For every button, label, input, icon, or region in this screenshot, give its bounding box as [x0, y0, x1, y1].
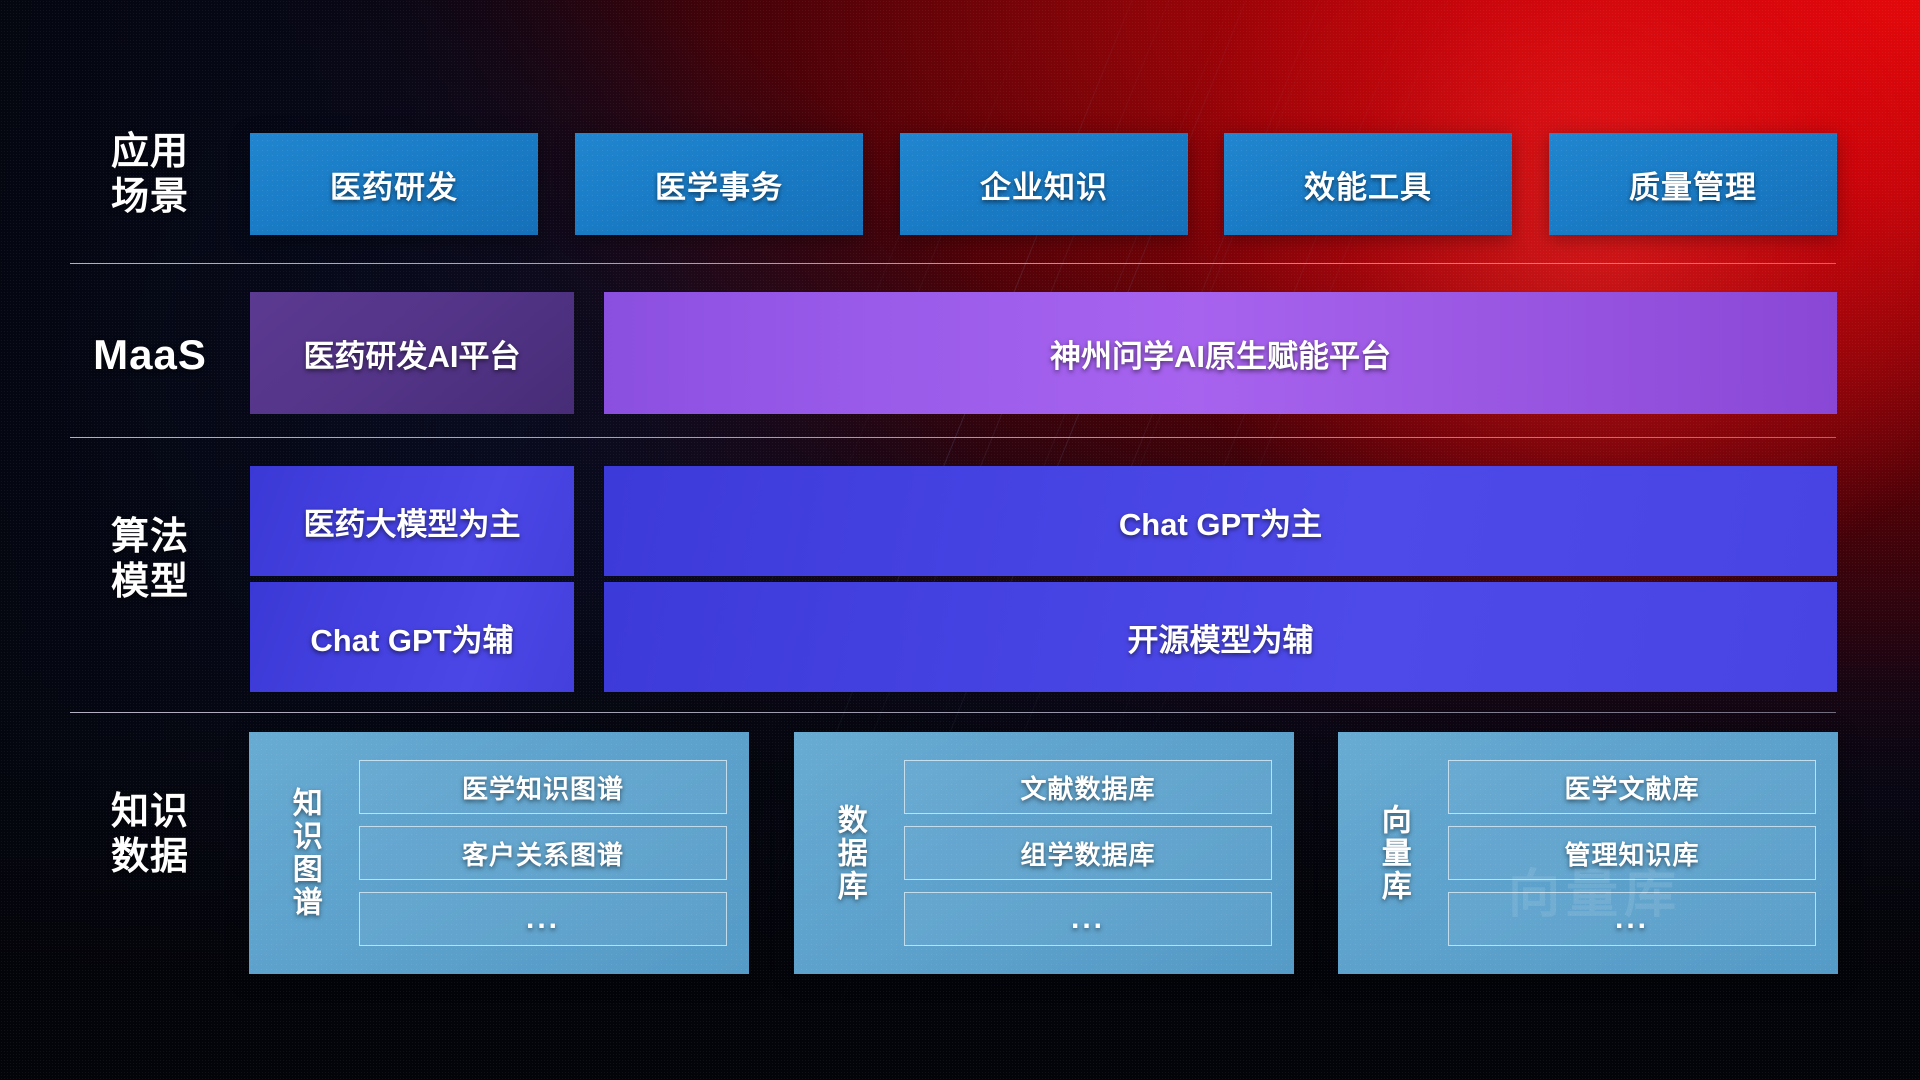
- knowledge-item-database-label-1: 组学数据库: [1020, 835, 1155, 872]
- algorithm-box-chatgpt-primary[interactable]: Chat GPT为主: [604, 466, 1837, 576]
- knowledge-item-database-label-0: 文献数据库: [1020, 769, 1155, 806]
- row-label-knowledge-line2: 数据: [60, 835, 240, 880]
- knowledge-item-graph-0[interactable]: 医学知识图谱: [359, 760, 727, 814]
- maas-label-1: 神州问学AI原生赋能平台: [1050, 331, 1391, 376]
- knowledge-panel-graph-items: 医学知识图谱 客户关系图谱 ...: [359, 732, 749, 974]
- knowledge-item-graph-2[interactable]: ...: [359, 892, 727, 946]
- app-scenario-label-1: 医学事务: [655, 162, 783, 207]
- app-scenario-box-4[interactable]: 质量管理: [1549, 133, 1837, 235]
- knowledge-item-vector-1[interactable]: 管理知识库: [1448, 826, 1816, 880]
- knowledge-panel-graph-title: 知识图谱: [249, 732, 359, 974]
- row-label-maas: MaaS: [60, 330, 240, 380]
- divider-algorithm-knowledge: [70, 712, 1836, 713]
- knowledge-panel-database[interactable]: 数据库 文献数据库 组学数据库 ...: [794, 732, 1294, 974]
- knowledge-panel-database-title: 数据库: [794, 732, 904, 974]
- maas-box-shenzhou-platform[interactable]: 神州问学AI原生赋能平台: [604, 292, 1837, 414]
- app-scenario-label-3: 效能工具: [1304, 162, 1432, 207]
- knowledge-item-vector-2[interactable]: ...: [1448, 892, 1816, 946]
- knowledge-item-graph-label-1: 客户关系图谱: [462, 835, 624, 872]
- knowledge-item-database-2[interactable]: ...: [904, 892, 1272, 946]
- app-scenario-box-0[interactable]: 医药研发: [250, 133, 538, 235]
- knowledge-item-vector-label-1: 管理知识库: [1564, 835, 1699, 872]
- app-scenario-box-2[interactable]: 企业知识: [900, 133, 1188, 235]
- row-label-algorithm-line2: 模型: [60, 560, 240, 605]
- app-scenario-label-0: 医药研发: [330, 162, 458, 207]
- row-label-algorithm-line1: 算法: [60, 515, 240, 560]
- algorithm-box-drug-model-primary[interactable]: 医药大模型为主: [250, 466, 574, 576]
- row-label-maas-text: MaaS: [60, 330, 240, 380]
- app-scenario-label-2: 企业知识: [980, 162, 1108, 207]
- algorithm-label-0: 医药大模型为主: [304, 499, 521, 544]
- algorithm-box-opensource-secondary[interactable]: 开源模型为辅: [604, 582, 1837, 692]
- row-label-application-line1: 应用: [60, 130, 240, 175]
- knowledge-item-graph-1[interactable]: 客户关系图谱: [359, 826, 727, 880]
- knowledge-panel-database-items: 文献数据库 组学数据库 ...: [904, 732, 1294, 974]
- knowledge-panel-vector[interactable]: 向量库 向量库 医学文献库 管理知识库 ...: [1338, 732, 1838, 974]
- knowledge-item-vector-label-0: 医学文献库: [1564, 769, 1699, 806]
- knowledge-item-database-label-2: ...: [1071, 902, 1105, 936]
- knowledge-item-vector-label-2: ...: [1615, 902, 1649, 936]
- architecture-diagram: 应用 场景 医药研发 医学事务 企业知识 效能工具 质量管理 MaaS 医药研发…: [0, 0, 1920, 1080]
- row-label-knowledge-line1: 知识: [60, 790, 240, 835]
- diagram-content: 应用 场景 医药研发 医学事务 企业知识 效能工具 质量管理 MaaS 医药研发…: [0, 0, 1920, 1080]
- divider-application-maas: [70, 263, 1836, 264]
- row-label-application: 应用 场景: [60, 130, 240, 220]
- app-scenario-box-3[interactable]: 效能工具: [1224, 133, 1512, 235]
- maas-box-drug-ai-platform[interactable]: 医药研发AI平台: [250, 292, 574, 414]
- knowledge-panel-graph[interactable]: 知识图谱 医学知识图谱 客户关系图谱 ...: [249, 732, 749, 974]
- knowledge-panel-vector-items: 医学文献库 管理知识库 ...: [1448, 732, 1838, 974]
- knowledge-item-vector-0[interactable]: 医学文献库: [1448, 760, 1816, 814]
- knowledge-panel-vector-title: 向量库: [1338, 732, 1448, 974]
- app-scenario-label-4: 质量管理: [1629, 162, 1757, 207]
- knowledge-item-database-1[interactable]: 组学数据库: [904, 826, 1272, 880]
- algorithm-box-chatgpt-secondary[interactable]: Chat GPT为辅: [250, 582, 574, 692]
- knowledge-item-graph-label-2: ...: [526, 902, 560, 936]
- row-label-knowledge: 知识 数据: [60, 790, 240, 880]
- row-label-algorithm: 算法 模型: [60, 515, 240, 605]
- maas-label-0: 医药研发AI平台: [304, 331, 521, 376]
- knowledge-item-database-0[interactable]: 文献数据库: [904, 760, 1272, 814]
- algorithm-label-1: Chat GPT为主: [1119, 499, 1322, 544]
- divider-maas-algorithm: [70, 437, 1836, 438]
- algorithm-label-2: Chat GPT为辅: [310, 615, 513, 660]
- algorithm-label-3: 开源模型为辅: [1128, 615, 1314, 660]
- app-scenario-box-1[interactable]: 医学事务: [575, 133, 863, 235]
- knowledge-item-graph-label-0: 医学知识图谱: [462, 769, 624, 806]
- row-label-application-line2: 场景: [60, 175, 240, 220]
